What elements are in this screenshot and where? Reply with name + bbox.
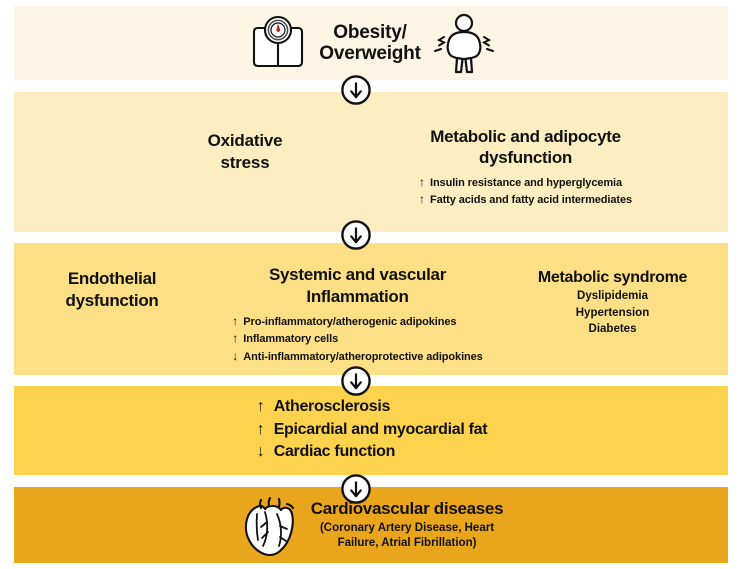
- metabolic-heading: Metabolic and adipocyte dysfunction: [383, 126, 668, 169]
- endothelial-line-2: dysfunction: [65, 291, 158, 310]
- inflammation-heading: Systemic and vascular Inflammation: [215, 264, 500, 308]
- flow-arrow-down-icon-1: [339, 73, 373, 107]
- list-item: ↓Cardiac function: [257, 441, 488, 464]
- list-item-label: Insulin resistance and hyperglycemia: [430, 177, 622, 189]
- list-item-label: Fatty acids and fatty acid intermediates: [430, 194, 632, 206]
- anatomical-heart-icon: [241, 492, 303, 558]
- cvd-text-block: Cardiovascular diseases (Coronary Artery…: [311, 498, 504, 551]
- flow-arrow-down-icon-3: [339, 364, 373, 398]
- level-4-row: ↑Atherosclerosis ↑Epicardial and myocard…: [0, 396, 744, 464]
- list-item: ↓Anti-inflammatory/atheroprotective adip…: [232, 348, 482, 366]
- weight-scale-icon: [247, 14, 309, 72]
- metabolic-syndrome-block: Metabolic syndrome Dyslipidemia Hyperten…: [505, 268, 720, 338]
- inflammation-item-list: ↑Pro-inflammatory/atherogenic adipokines…: [232, 313, 482, 366]
- up-arrow-icon: ↑: [257, 396, 274, 419]
- metabolic-dysfunction-block: Metabolic and adipocyte dysfunction ↑Ins…: [383, 126, 668, 209]
- up-arrow-icon: ↑: [419, 174, 430, 191]
- metabolic-heading-line-1: Metabolic and adipocyte: [430, 127, 621, 146]
- level-1-title: Obesity/ Overweight: [319, 22, 420, 65]
- endothelial-dysfunction-label: Endothelial dysfunction: [22, 268, 202, 313]
- cvd-heading: Cardiovascular diseases: [311, 499, 504, 518]
- up-arrow-icon: ↑: [257, 419, 274, 442]
- cvd-sub-line-1: (Coronary Artery Disease, Heart: [311, 521, 504, 537]
- endothelial-line-1: Endothelial: [68, 269, 156, 288]
- up-arrow-icon: ↑: [232, 330, 243, 347]
- inflammation-heading-line-1: Systemic and vascular: [269, 265, 446, 284]
- down-arrow-icon: ↓: [257, 441, 274, 464]
- list-item-label: Cardiac function: [274, 443, 395, 460]
- metabolic-item-list: ↑Insulin resistance and hyperglycemia ↑F…: [419, 174, 632, 209]
- down-arrow-icon: ↓: [232, 348, 243, 365]
- list-item: ↑Fatty acids and fatty acid intermediate…: [419, 191, 632, 209]
- list-item: Dyslipidemia: [505, 288, 720, 305]
- list-item-label: Epicardial and myocardial fat: [274, 421, 488, 438]
- inflammation-heading-line-2: Inflammation: [306, 287, 408, 306]
- list-item: ↑Atherosclerosis: [257, 396, 488, 419]
- list-item: ↑Epicardial and myocardial fat: [257, 419, 488, 442]
- oxidative-line-2: stress: [221, 153, 270, 172]
- list-item-label: Pro-inflammatory/atherogenic adipokines: [243, 316, 456, 328]
- list-item-label: Anti-inflammatory/atheroprotective adipo…: [243, 351, 482, 363]
- oxidative-stress-label: Oxidative stress: [160, 130, 330, 174]
- level-5-row: Cardiovascular diseases (Coronary Artery…: [0, 490, 744, 560]
- level-1-title-line-1: Obesity/: [333, 22, 406, 43]
- list-item-label: Atherosclerosis: [274, 398, 390, 415]
- metabolic-syndrome-heading: Metabolic syndrome: [505, 268, 720, 288]
- up-arrow-icon: ↑: [419, 191, 430, 208]
- level-1-title-line-2: Overweight: [319, 43, 420, 64]
- diagram-canvas: Obesity/ Overweight: [0, 0, 744, 569]
- cvd-sub-line-2: Failure, Atrial Fibrillation): [311, 536, 504, 552]
- list-item: ↑Insulin resistance and hyperglycemia: [419, 174, 632, 192]
- list-item: ↑Pro-inflammatory/atherogenic adipokines: [232, 313, 482, 331]
- atherosclerosis-item-list: ↑Atherosclerosis ↑Epicardial and myocard…: [257, 396, 488, 464]
- list-item: Diabetes: [505, 321, 720, 338]
- up-arrow-icon: ↑: [232, 313, 243, 330]
- flow-arrow-down-icon-2: [339, 218, 373, 252]
- list-item-label: Inflammatory cells: [243, 333, 338, 345]
- inflammation-block: Systemic and vascular Inflammation ↑Pro-…: [215, 264, 500, 365]
- list-item: ↑Inflammatory cells: [232, 330, 482, 348]
- overweight-person-icon: [431, 12, 497, 74]
- list-item: Hypertension: [505, 305, 720, 322]
- metabolic-heading-line-2: dysfunction: [479, 148, 572, 167]
- oxidative-line-1: Oxidative: [208, 131, 283, 150]
- level-1-row: Obesity/ Overweight: [0, 6, 744, 80]
